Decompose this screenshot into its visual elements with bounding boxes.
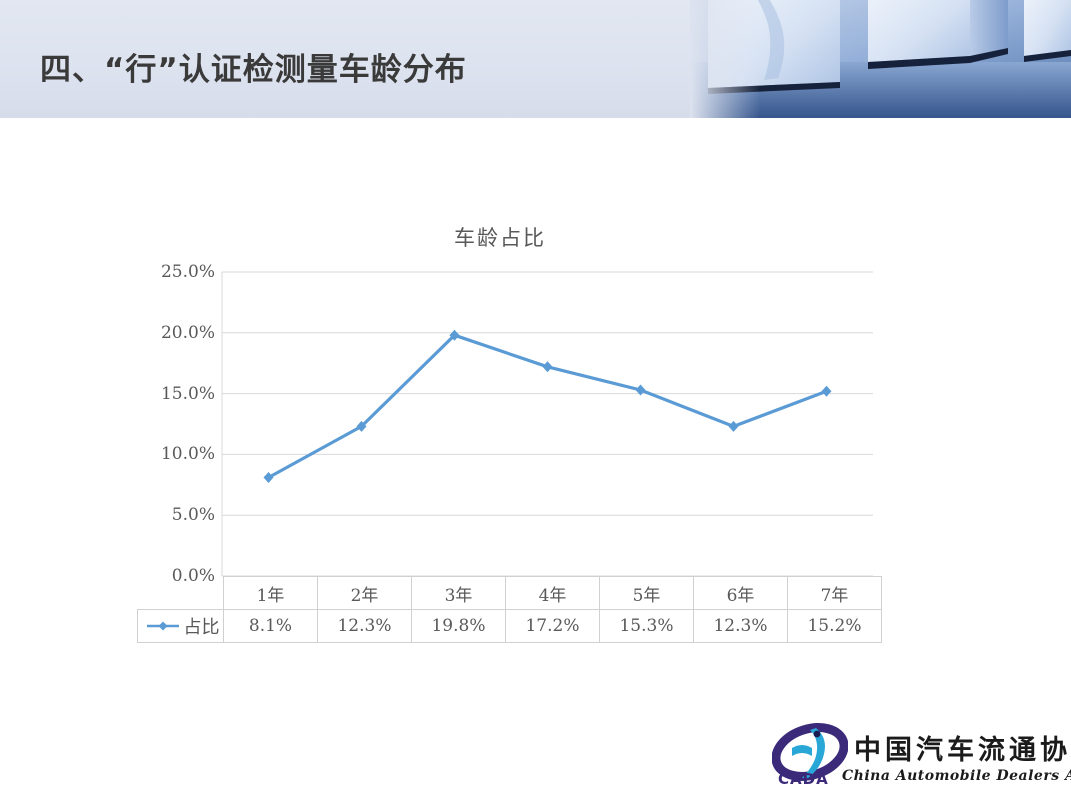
chart-series-markers (264, 330, 832, 483)
y-tick-label: 20.0% (137, 323, 215, 343)
legend-label: 占比 (182, 613, 220, 639)
table-row: 占比 8.1% 12.3% 19.8% 17.2% 15.3% 12.3% 15… (138, 610, 882, 643)
logo-name-cn: 中国汽车流通协会 (854, 728, 1071, 767)
chart-title: 车龄占比 (0, 222, 1000, 252)
logo-name-en: China Automobile Dealers Association (842, 768, 1071, 784)
legend-line-marker-icon (146, 620, 180, 632)
table-header-cell: 4年 (506, 577, 600, 610)
table-value-cell: 12.3% (694, 610, 788, 643)
y-tick-label: 10.0% (137, 444, 215, 464)
table-header-cell: 1年 (224, 577, 318, 610)
table-value-cell: 8.1% (224, 610, 318, 643)
chart-gridlines (222, 272, 873, 576)
table-value-cell: 15.2% (788, 610, 882, 643)
table-value-cell: 19.8% (412, 610, 506, 643)
y-tick-label: 5.0% (137, 505, 215, 525)
line-chart-svg (222, 262, 873, 576)
logo-acronym: CADA (778, 770, 829, 788)
slide-header: 四、“行”认证检测量车龄分布 (0, 0, 1071, 118)
y-tick-label: 25.0% (137, 262, 215, 282)
chart-data-table: 1年 2年 3年 4年 5年 6年 7年 占比 8.1% 12.3% 19.8%… (137, 576, 882, 643)
table-header-cell: 3年 (412, 577, 506, 610)
y-tick-label: 15.0% (137, 384, 215, 404)
table-header-cell: 5年 (600, 577, 694, 610)
table-value-cell: 17.2% (506, 610, 600, 643)
page-title: 四、“行”认证检测量车龄分布 (40, 44, 467, 89)
table-header-cell: 2年 (318, 577, 412, 610)
table-corner-cell (138, 577, 224, 610)
table-row-header: 1年 2年 3年 4年 5年 6年 7年 (138, 577, 882, 610)
header-decoration-image (690, 0, 1071, 118)
table-header-cell: 6年 (694, 577, 788, 610)
cada-logo: CADA 中国汽车流通协会 China Automobile Dealers A… (772, 722, 1064, 796)
table-header-cell: 7年 (788, 577, 882, 610)
table-value-cell: 15.3% (600, 610, 694, 643)
table-value-cell: 12.3% (318, 610, 412, 643)
chart-series-line (269, 335, 827, 477)
chart-legend-entry: 占比 (138, 610, 224, 643)
header-art-fade (690, 0, 760, 118)
